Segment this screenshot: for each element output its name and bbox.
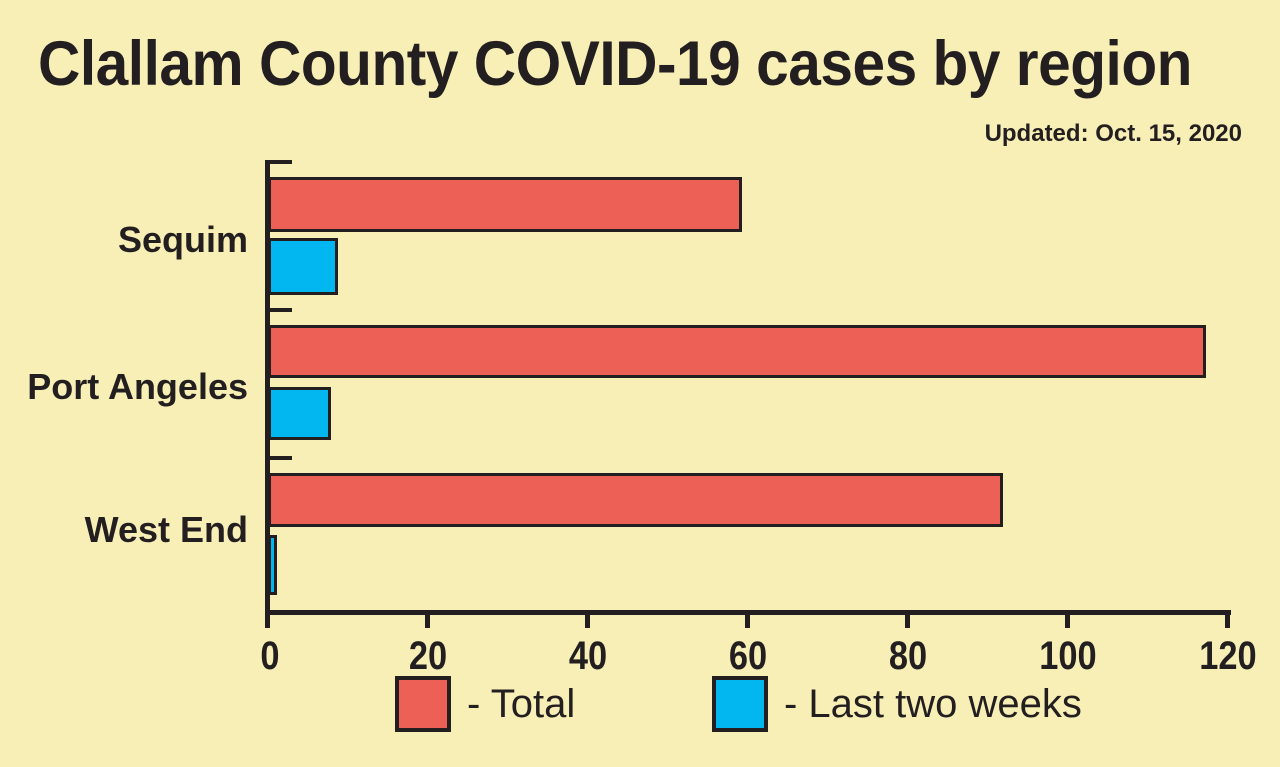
x-tick-label-20: 20	[409, 634, 447, 679]
x-tick-label-60: 60	[729, 634, 767, 679]
bar-recent-port-angeles	[268, 387, 331, 440]
legend-item-total: - Total	[395, 676, 575, 732]
legend-label-last-two-weeks: - Last two weeks	[784, 682, 1082, 727]
chart-title: Clallam County COVID-19 cases by region	[38, 30, 1163, 98]
x-tick-label-0: 0	[260, 634, 279, 679]
covid-cases-bar-chart: Clallam County COVID-19 cases by region …	[0, 0, 1280, 767]
bar-total-sequim	[268, 177, 742, 232]
x-tick-100	[1065, 610, 1070, 628]
legend-swatch-last-two-weeks	[712, 676, 768, 732]
category-label-port-angeles: Port Angeles	[27, 366, 248, 408]
x-tick-label-120: 120	[1199, 634, 1256, 679]
legend-swatch-total	[395, 676, 451, 732]
bar-recent-sequim	[268, 238, 338, 295]
category-label-west-end: West End	[85, 509, 248, 551]
group-sep-tick-2	[268, 456, 292, 460]
x-tick-80	[905, 610, 910, 628]
x-tick-label-100: 100	[1039, 634, 1096, 679]
x-tick-120	[1225, 610, 1230, 628]
x-tick-0	[265, 610, 270, 628]
x-tick-label-40: 40	[569, 634, 607, 679]
legend-item-last-two-weeks: - Last two weeks	[712, 676, 1082, 732]
x-tick-label-80: 80	[889, 634, 927, 679]
bar-total-port-angeles	[268, 325, 1206, 378]
chart-updated-date: Updated: Oct. 15, 2020	[985, 120, 1242, 148]
plot-area: 0 20 40 60 80 100 120	[268, 160, 1228, 610]
bar-recent-west-end	[268, 535, 277, 595]
category-label-sequim: Sequim	[118, 219, 248, 261]
chart-legend: - Total - Last two weeks	[0, 676, 1280, 738]
group-sep-tick-1	[268, 308, 292, 312]
bar-total-west-end	[268, 473, 1003, 527]
x-tick-20	[425, 610, 430, 628]
x-tick-60	[745, 610, 750, 628]
x-tick-40	[585, 610, 590, 628]
group-sep-tick-top	[268, 160, 292, 164]
legend-label-total: - Total	[467, 682, 575, 727]
